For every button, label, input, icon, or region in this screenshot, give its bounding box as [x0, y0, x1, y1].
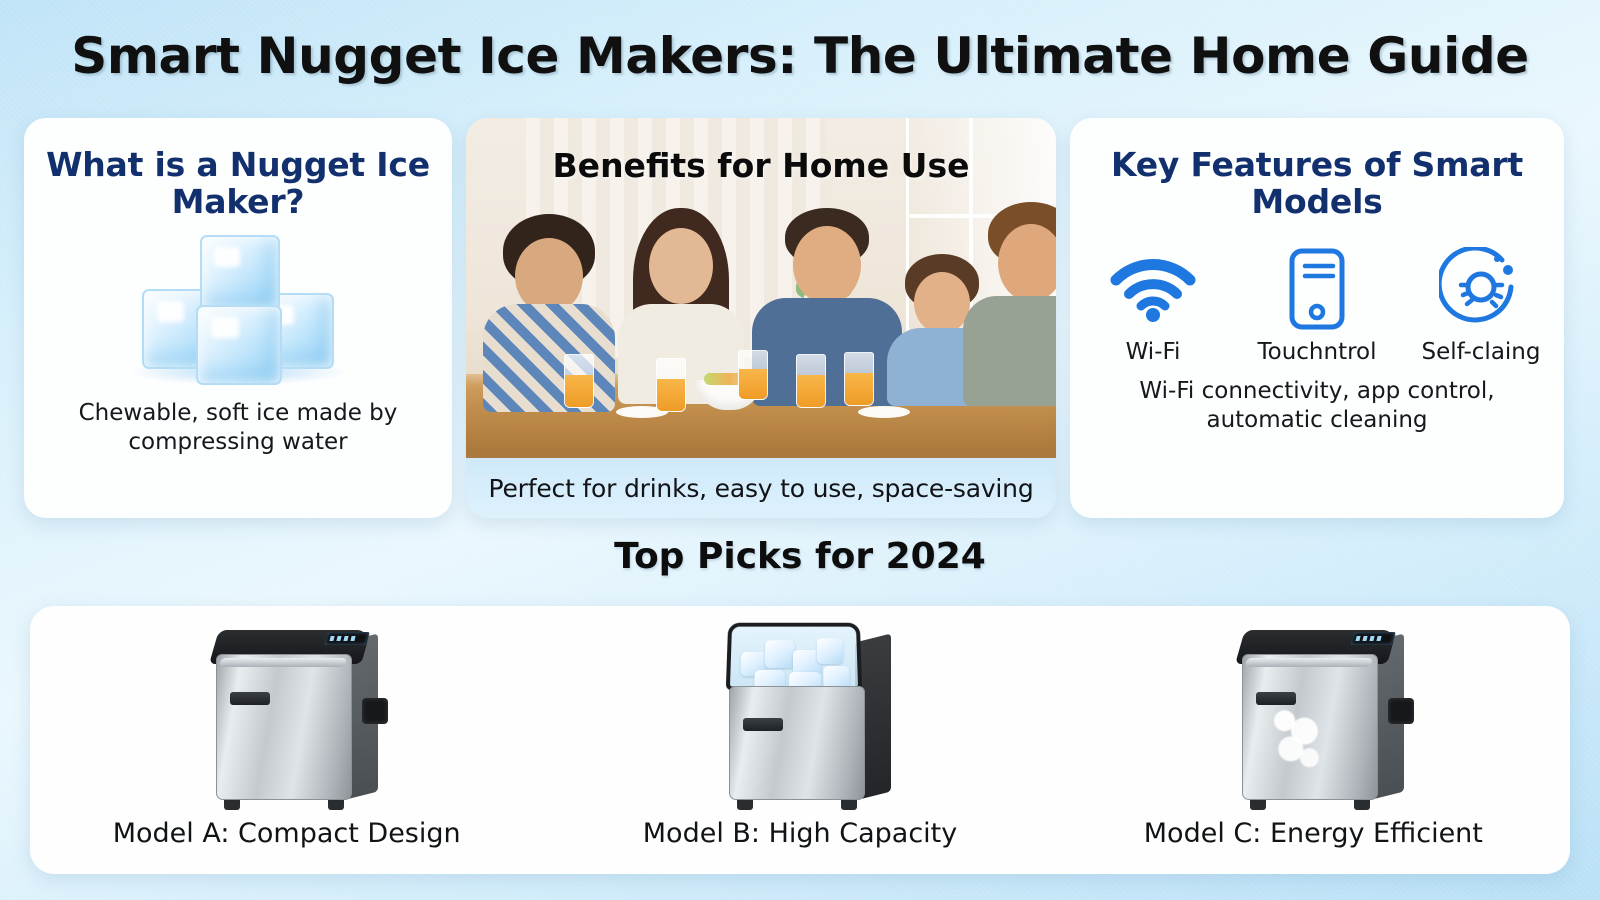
ice-cube-top: [200, 235, 280, 311]
poster-header: Smart Nugget Ice Makers: The Ultimate Ho…: [0, 0, 1600, 112]
card-what-is-nugget-ice-maker: What is a Nugget Ice Maker? Chewable, so…: [24, 118, 452, 518]
compact-ice-maker-photo: [192, 614, 382, 810]
touch-control-panel-icon: [1257, 241, 1377, 337]
juice-glass-4: [796, 354, 826, 408]
page-title: Smart Nugget Ice Makers: The Ultimate Ho…: [71, 27, 1529, 85]
high-capacity-ice-maker-photo: [705, 614, 895, 810]
product-model-a[interactable]: Model A: Compact Design: [30, 606, 543, 874]
person-1: [484, 212, 614, 402]
ice-cube-front: [196, 305, 282, 385]
energy-efficient-ice-maker-photo: [1218, 614, 1408, 810]
product-model-c[interactable]: Model C: Energy Efficient: [1057, 606, 1570, 874]
wifi-icon: [1093, 241, 1213, 337]
product-model-a-label: Model A: Compact Design: [113, 818, 461, 849]
feature-touch-control-label: Touchntrol: [1257, 339, 1377, 365]
card-key-features: Key Features of Smart Models: [1070, 118, 1564, 518]
juice-glass-2: [656, 358, 686, 412]
card-benefits-for-home-use: Benefits for Home Use Perfect for drinks…: [466, 118, 1056, 518]
infographic-poster: Smart Nugget Ice Makers: The Ultimate Ho…: [0, 0, 1600, 900]
family-photo: Benefits for Home Use: [466, 118, 1056, 458]
juice-glass-5: [844, 352, 874, 406]
feature-wifi-label: Wi-Fi: [1093, 339, 1213, 365]
feature-icons-row: Wi-Fi Touchntrol: [1070, 241, 1564, 365]
person-5: [966, 202, 1056, 402]
card-2-heading: Benefits for Home Use: [466, 146, 1056, 185]
plate-2: [858, 406, 910, 418]
ice-cubes-icon: [24, 227, 452, 399]
card-1-heading: What is a Nugget Ice Maker?: [24, 118, 452, 221]
card-2-caption: Perfect for drinks, easy to use, space-s…: [466, 458, 1056, 518]
feature-self-cleaning-label: Self-claing: [1421, 339, 1541, 365]
product-model-c-label: Model C: Energy Efficient: [1144, 818, 1483, 849]
feature-self-cleaning: Self-claing: [1421, 241, 1541, 365]
juice-glass-3: [738, 350, 768, 400]
top-picks-card: Model A: Compact Design Model B: High: [30, 606, 1570, 874]
feature-touch-control: Touchntrol: [1257, 241, 1377, 365]
card-3-body: Wi-Fi connectivity, app control, automat…: [1070, 377, 1564, 436]
feature-cards-row: What is a Nugget Ice Maker? Chewable, so…: [24, 118, 1576, 518]
product-model-b-label: Model B: High Capacity: [643, 818, 957, 849]
card-1-body: Chewable, soft ice made by compressing w…: [24, 399, 452, 458]
person-3: [752, 206, 902, 402]
card-3-heading: Key Features of Smart Models: [1070, 118, 1564, 221]
product-model-b[interactable]: Model B: High Capacity: [543, 606, 1056, 874]
feature-wifi: Wi-Fi: [1093, 241, 1213, 365]
self-cleaning-icon: [1421, 241, 1541, 337]
juice-glass-1: [564, 354, 594, 408]
top-picks-heading: Top Picks for 2024: [0, 536, 1600, 577]
